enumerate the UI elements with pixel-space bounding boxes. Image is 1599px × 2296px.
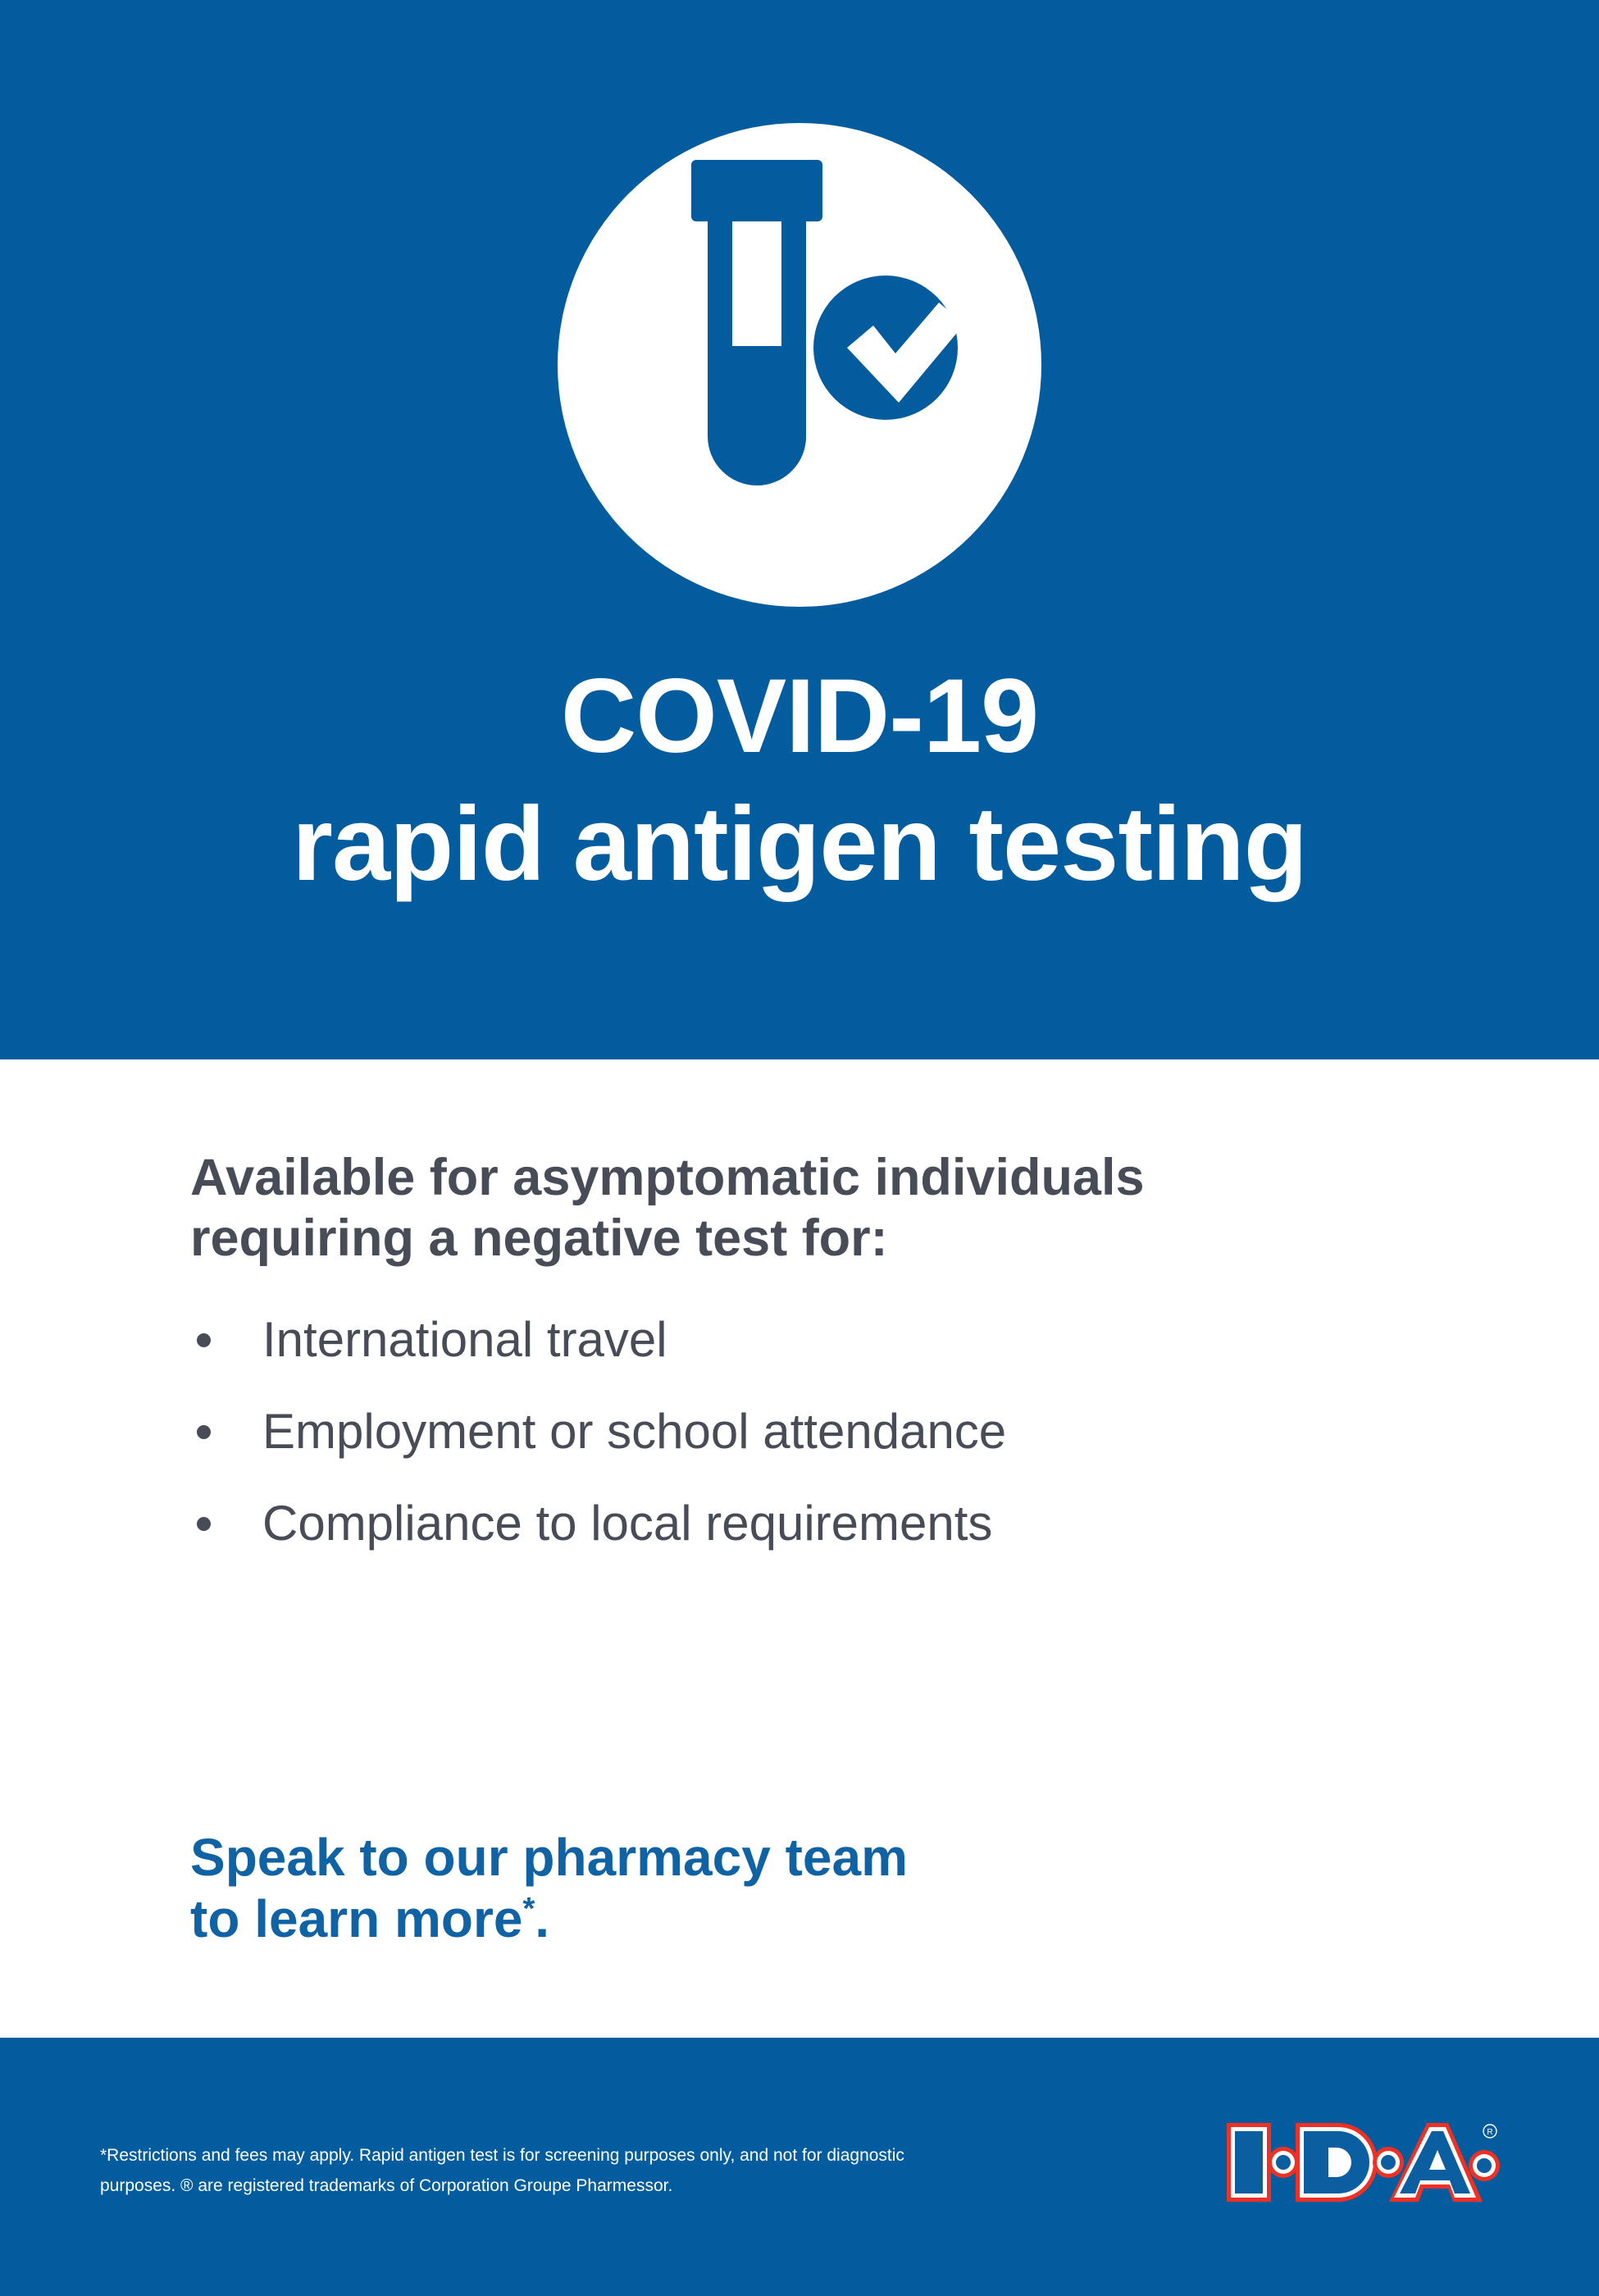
- svg-text:R: R: [1487, 2128, 1492, 2137]
- cta-line-1: Speak to our pharmacy team: [190, 1827, 1420, 1888]
- call-to-action: Speak to our pharmacy team to learn more…: [190, 1827, 1420, 1950]
- list-item: Compliance to local requirements: [190, 1499, 1502, 1548]
- cta-line-2-wrapper: to learn more*.: [190, 1888, 1420, 1950]
- availability-heading: Available for asymptomatic individuals r…: [190, 1148, 1469, 1269]
- cta-period: .: [535, 1889, 549, 1948]
- poster-title: COVID-19 rapid antigen testing: [0, 664, 1599, 897]
- list-item-label: Employment or school attendance: [262, 1404, 1006, 1459]
- use-case-list: International travel Employment or schoo…: [190, 1315, 1502, 1591]
- body-section: Available for asymptomatic individuals r…: [0, 1059, 1599, 2038]
- bullet-dot-icon: [197, 1425, 211, 1439]
- bullet-dot-icon: [197, 1517, 211, 1531]
- header-band: COVID-19 rapid antigen testing: [0, 0, 1599, 1059]
- footer-band: *Restrictions and fees may apply. Rapid …: [0, 2038, 1599, 2296]
- poster-root: COVID-19 rapid antigen testing Available…: [0, 0, 1599, 2296]
- availability-heading-line-2: requiring a negative test for:: [190, 1209, 1469, 1269]
- title-line-covid: COVID-19: [0, 664, 1599, 769]
- ida-logo: R: [1220, 2113, 1503, 2220]
- list-item-label: International travel: [262, 1312, 667, 1367]
- availability-heading-line-1: Available for asymptomatic individuals: [190, 1148, 1469, 1209]
- cta-line-2: to learn more: [190, 1889, 522, 1948]
- disclaimer-line-2: purposes. ® are registered trademarks of…: [100, 2171, 928, 2201]
- list-item-label: Compliance to local requirements: [262, 1496, 992, 1551]
- test-tube-check-icon: [558, 123, 1041, 607]
- disclaimer-line-1: *Restrictions and fees may apply. Rapid …: [100, 2140, 928, 2171]
- list-item: Employment or school attendance: [190, 1407, 1502, 1456]
- cta-asterisk-marker: *: [522, 1892, 535, 1926]
- disclaimer-text: *Restrictions and fees may apply. Rapid …: [100, 2140, 928, 2202]
- list-item: International travel: [190, 1315, 1502, 1364]
- bullet-dot-icon: [197, 1333, 211, 1347]
- title-line-testing: rapid antigen testing: [0, 792, 1599, 897]
